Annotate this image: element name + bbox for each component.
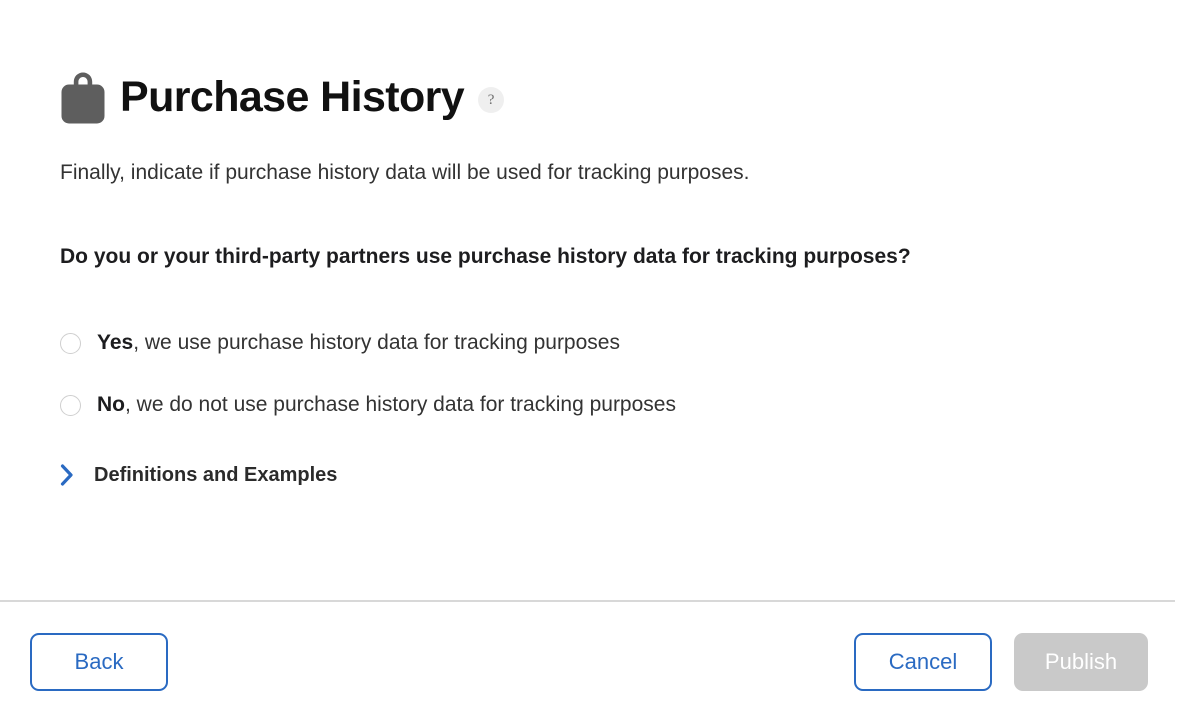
radio-label-no-lead: No (97, 393, 125, 416)
definitions-and-examples-label: Definitions and Examples (94, 464, 337, 487)
radio-label-yes: Yes, we use purchase history data for tr… (97, 329, 620, 357)
cancel-button[interactable]: Cancel (854, 633, 992, 691)
radio-option-no[interactable]: No, we do not use purchase history data … (60, 386, 1120, 424)
shopping-bag-icon (60, 69, 106, 125)
definitions-and-examples-toggle[interactable]: Definitions and Examples (60, 459, 337, 491)
radio-label-yes-rest: , we use purchase history data for track… (133, 331, 620, 354)
chevron-right-icon (60, 464, 74, 486)
question-text: Do you or your third-party partners use … (60, 243, 911, 271)
footer-actions: Back Cancel Publish (0, 602, 1182, 710)
page-title: Purchase History (120, 76, 464, 119)
radio-label-no: No, we do not use purchase history data … (97, 391, 676, 419)
radio-group: Yes, we use purchase history data for tr… (60, 324, 1120, 448)
radio-label-yes-lead: Yes (97, 331, 133, 354)
publish-button[interactable]: Publish (1014, 633, 1148, 691)
radio-circle-yes[interactable] (60, 333, 81, 354)
page-header: Purchase History ? (60, 66, 504, 128)
purchase-history-page: Purchase History ? Finally, indicate if … (0, 0, 1182, 710)
radio-label-no-rest: , we do not use purchase history data fo… (125, 393, 676, 416)
intro-text: Finally, indicate if purchase history da… (60, 159, 749, 187)
back-button[interactable]: Back (30, 633, 168, 691)
help-icon[interactable]: ? (478, 87, 504, 113)
radio-circle-no[interactable] (60, 395, 81, 416)
radio-option-yes[interactable]: Yes, we use purchase history data for tr… (60, 324, 1120, 362)
